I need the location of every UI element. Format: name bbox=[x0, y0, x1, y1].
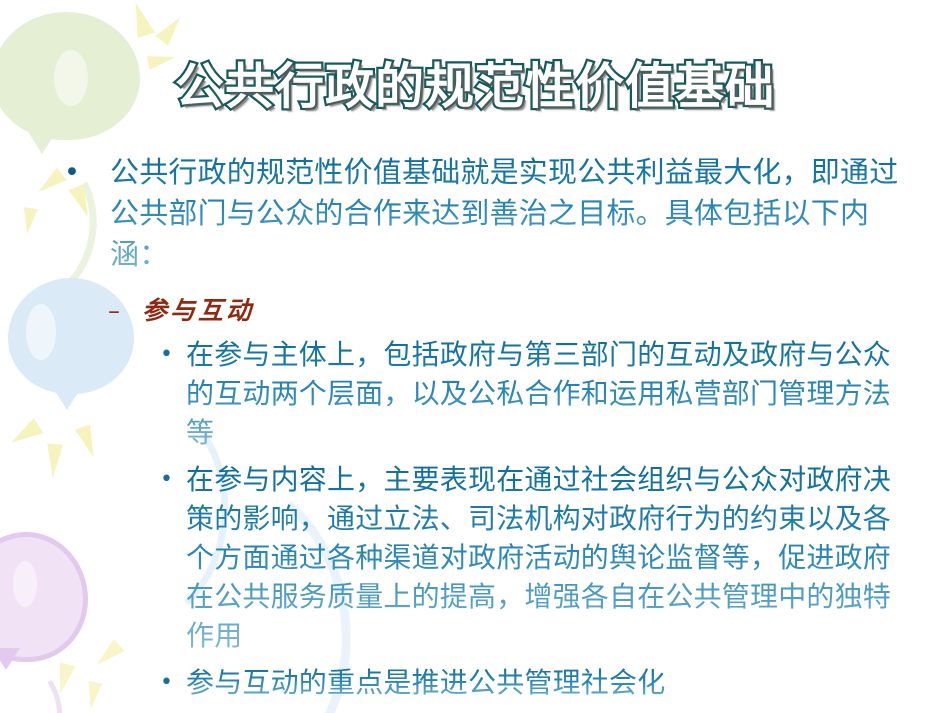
ray-green-1 bbox=[127, 0, 155, 38]
bullet-text-level1: 公共行政的规范性价值基础就是实现公共利益最大化，即通过公共部门与公众的合作来达到… bbox=[110, 152, 920, 275]
bullet-text-level2: 参与互动 bbox=[142, 293, 950, 329]
bullet-item-level3: • 在参与内容上，主要表现在通过社会组织与公众对政府决策的影响，通过立法、司法机… bbox=[0, 460, 950, 655]
bullet-text-level3: 参与互动的重点是推进公共管理社会化 bbox=[186, 663, 914, 702]
ray-green-2 bbox=[155, 12, 186, 45]
slide-title-text: 公共行政的规范性价值基础 bbox=[175, 56, 775, 118]
bullet-item-level2: – 参与互动 bbox=[0, 293, 950, 329]
slide-body: • 公共行政的规范性价值基础就是实现公共利益最大化，即通过公共部门与公众的合作来… bbox=[0, 152, 950, 710]
bullet-item-level3: • 参与互动的重点是推进公共管理社会化 bbox=[0, 663, 950, 702]
bullet-marker-level3: • bbox=[160, 460, 186, 499]
balloon-green-tail bbox=[26, 128, 58, 154]
bullet-text-level3: 在参与主体上，包括政府与第三部门的互动及政府与公众的互动两个层面，以及公私合作和… bbox=[186, 335, 914, 452]
bullet-item-level1: • 公共行政的规范性价值基础就是实现公共利益最大化，即通过公共部门与公众的合作来… bbox=[0, 152, 950, 275]
presentation-slide: 公共行政的规范性价值基础 • 公共行政的规范性价值基础就是实现公共利益最大化，即… bbox=[0, 0, 950, 713]
bullet-marker-level1: • bbox=[64, 152, 110, 193]
bullet-item-level3: • 在参与主体上，包括政府与第三部门的互动及政府与公众的互动两个层面，以及公私合… bbox=[0, 335, 950, 452]
slide-title: 公共行政的规范性价值基础 bbox=[0, 56, 950, 118]
bullet-marker-level3: • bbox=[160, 335, 186, 374]
bullet-text-level3: 在参与内容上，主要表现在通过社会组织与公众对政府决策的影响，通过立法、司法机构对… bbox=[186, 460, 914, 655]
bullet-marker-level3: • bbox=[160, 663, 186, 702]
bullet-marker-level2: – bbox=[108, 293, 142, 329]
